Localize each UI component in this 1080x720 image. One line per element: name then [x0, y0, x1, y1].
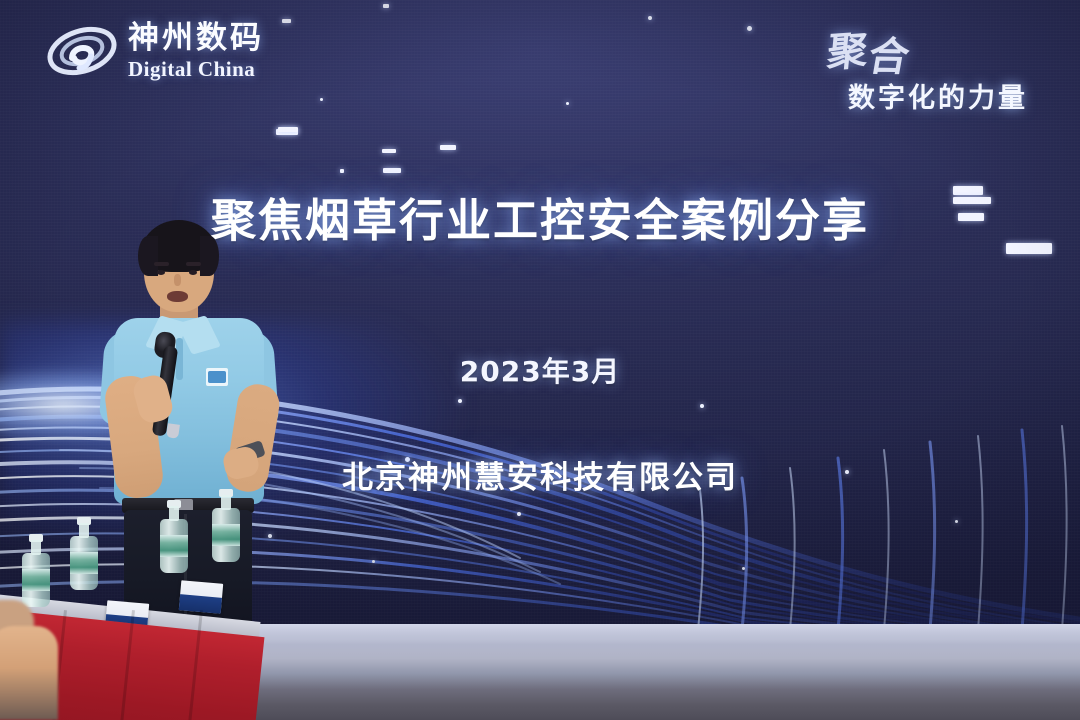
screenshot-root: 神州数码 Digital China 聚合 数字化的力量 聚焦烟草行业工控安全案… — [0, 0, 1080, 720]
nose — [174, 274, 181, 286]
water-bottle — [160, 519, 188, 573]
calligraphy-mark: 聚合 — [825, 12, 962, 83]
water-bottle — [212, 508, 240, 562]
bottle-body — [22, 553, 50, 607]
bottle-label — [22, 569, 50, 591]
event-slogan-logo: 聚合 数字化的力量 — [806, 18, 1056, 114]
bottle-body — [70, 536, 98, 590]
eye-right — [189, 270, 197, 275]
bottle-neck — [221, 495, 231, 510]
water-bottle — [70, 536, 98, 590]
bottle-label — [160, 535, 188, 557]
hair-side-left — [138, 236, 158, 276]
mouth — [167, 291, 188, 302]
bottle-label — [212, 524, 240, 546]
digital-china-logo: 神州数码 Digital China — [46, 18, 264, 84]
shirt-placket — [176, 338, 183, 380]
bottle-neck — [31, 540, 41, 555]
logo-text-block: 神州数码 Digital China — [128, 23, 264, 80]
bottle-body — [160, 519, 188, 573]
bottle-neck — [79, 523, 89, 538]
attendee-figure — [0, 626, 58, 720]
bottle-label — [70, 552, 98, 574]
logo-english-name: Digital China — [128, 59, 264, 80]
bottle-body — [212, 508, 240, 562]
chest-logo-badge — [206, 368, 228, 386]
logo-chinese-name: 神州数码 — [128, 23, 264, 54]
name-card — [179, 580, 223, 614]
chest-logo-inner — [208, 371, 226, 383]
eyebrow-left — [154, 262, 169, 266]
bottle-neck — [169, 506, 179, 521]
hair-side-right — [200, 236, 219, 276]
eyebrow-right — [186, 262, 201, 266]
calligraphy-char-1: 聚 — [825, 27, 865, 76]
water-bottle — [22, 553, 50, 607]
eye-left — [157, 270, 165, 275]
slogan-subtitle: 数字化的力量 — [820, 76, 1056, 115]
calligraphy-char-2: 合 — [864, 24, 910, 83]
spiral-galaxy-icon — [46, 18, 118, 84]
